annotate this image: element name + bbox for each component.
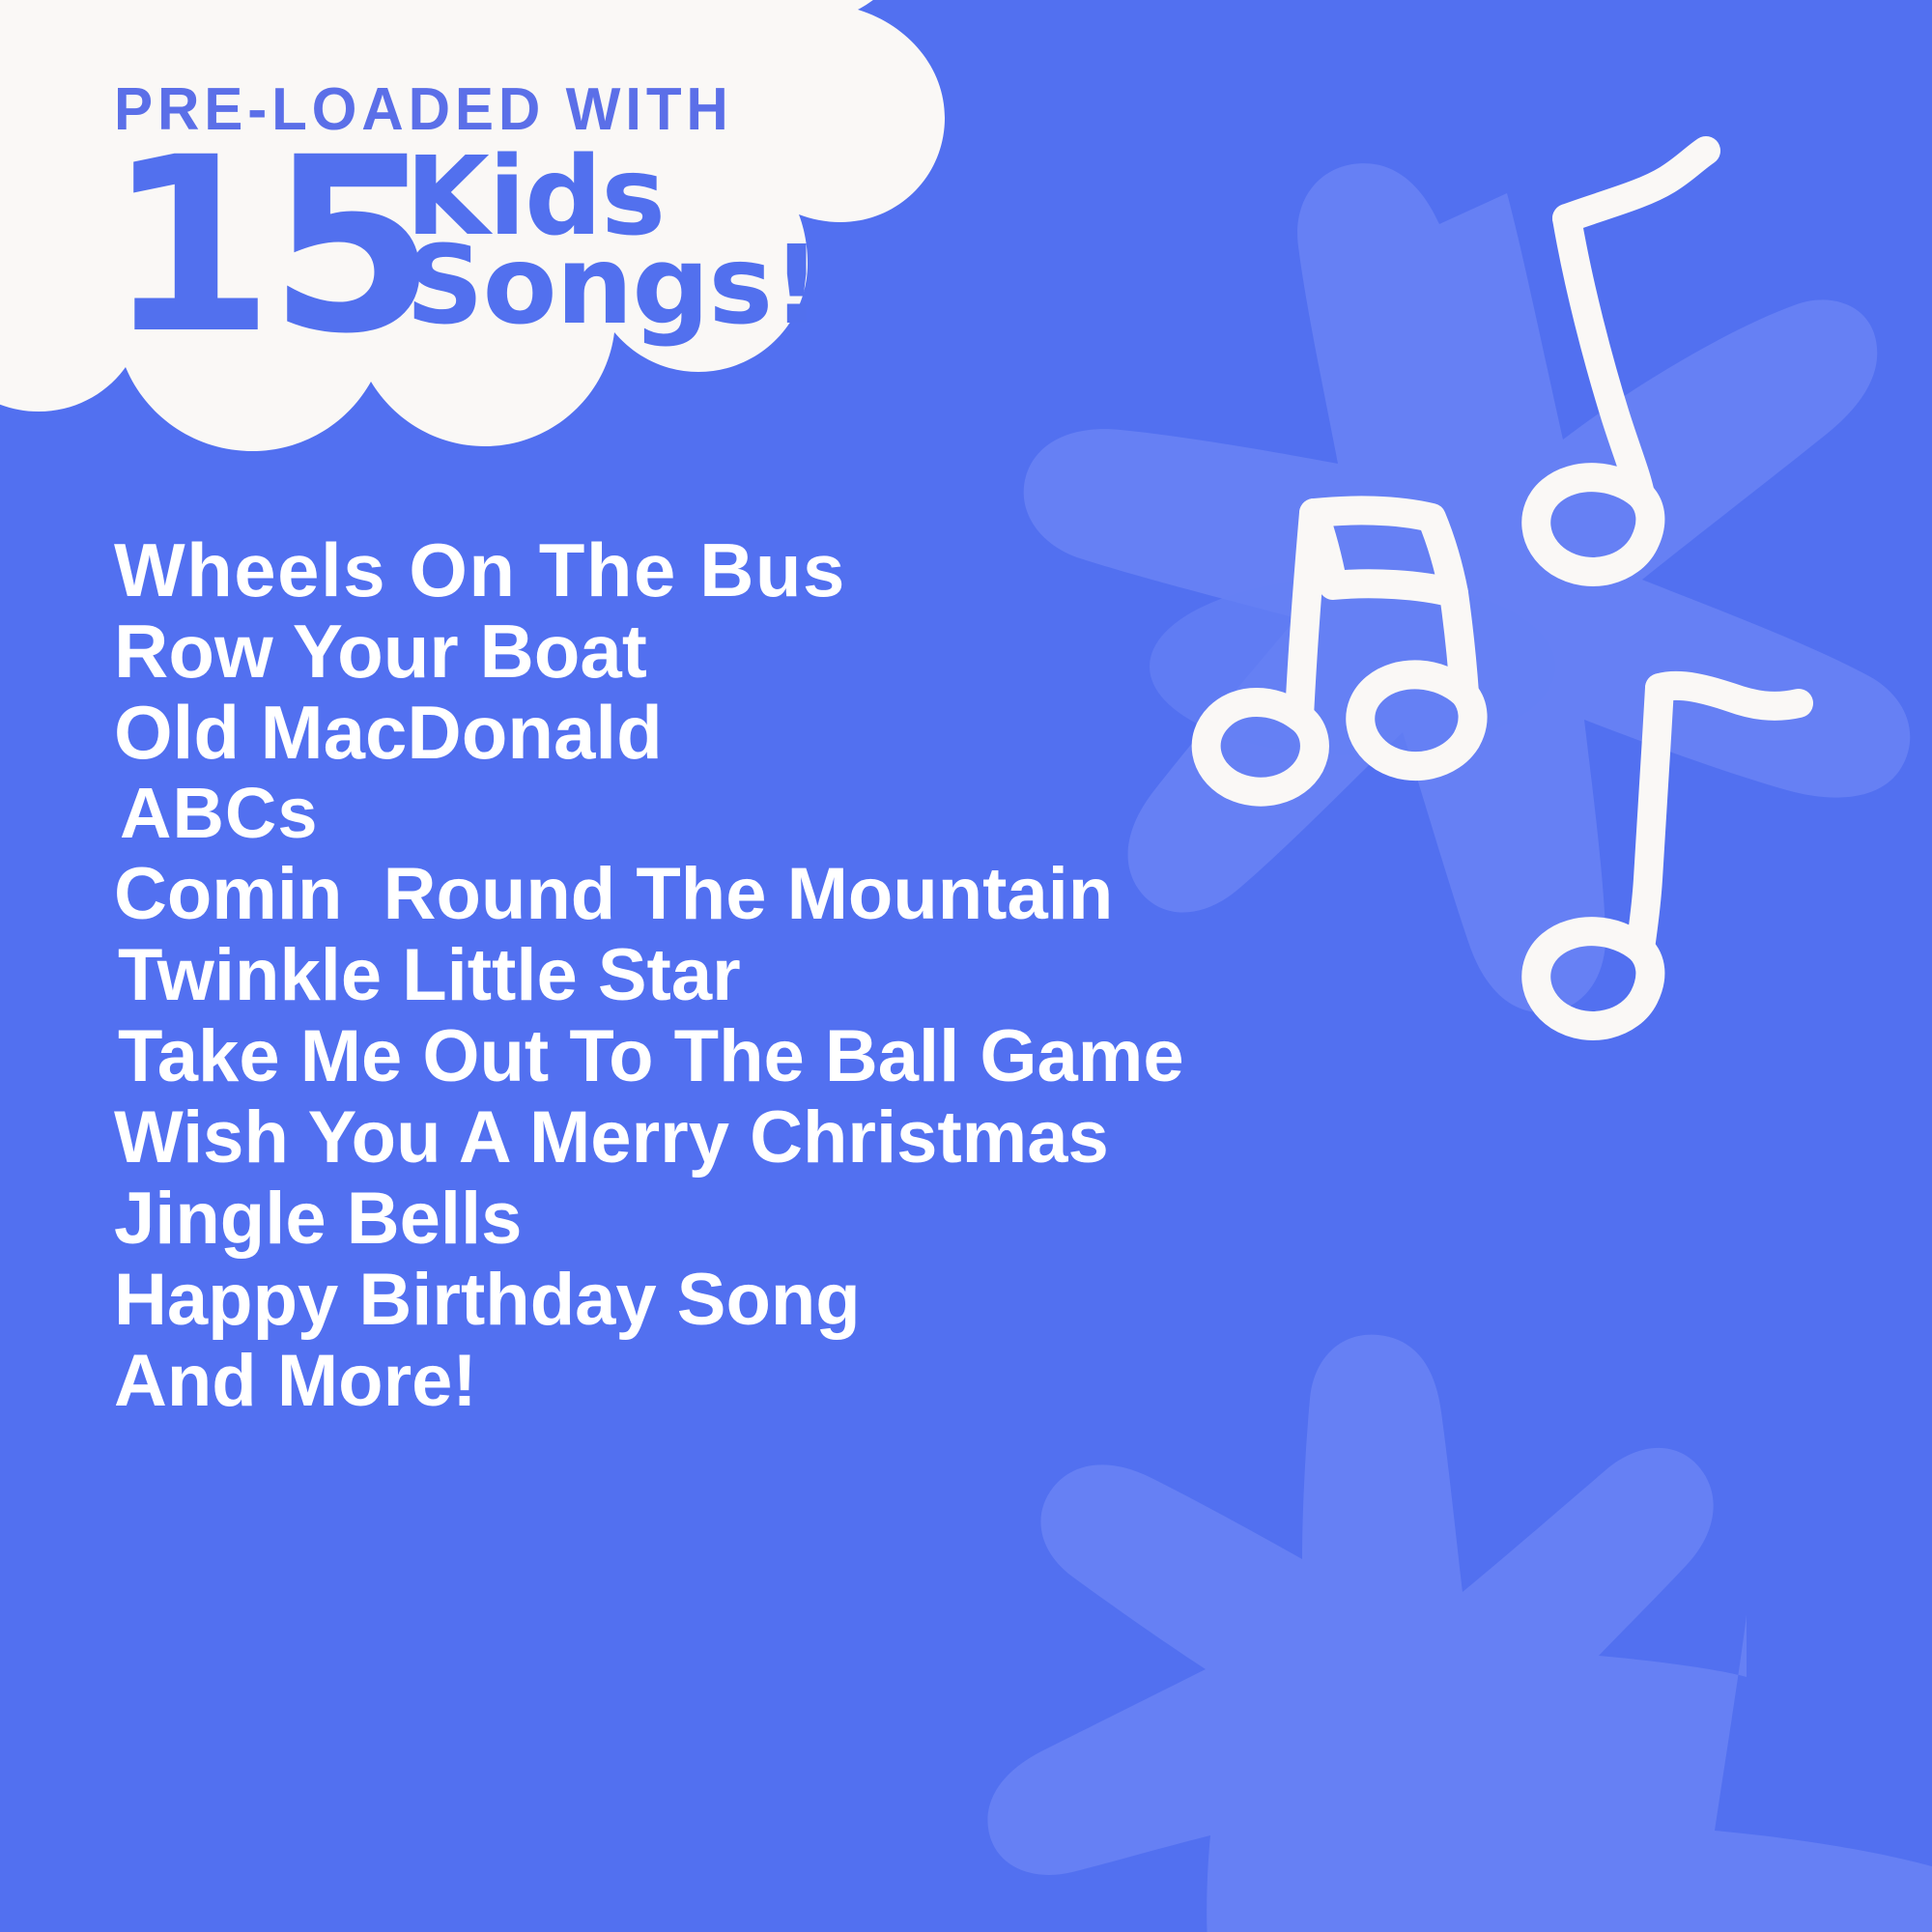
song-list-item: ABCs [120,773,1466,854]
song-list-item: Comin Round The Mountain [114,854,1466,935]
song-list-item: Twinkle Little Star [118,935,1466,1016]
song-list: Wheels On The Bus Row Your Boat Old MacD… [114,529,1466,1422]
star-shape-bottom-right [987,1335,1932,1932]
song-list-item: Wheels On The Bus [114,529,1466,611]
song-count-number: 15 [106,135,431,357]
song-list-item: Old MacDonald [114,692,1466,773]
kids-songs-line-2: Songs! [406,241,820,330]
promo-graphic: PRE-LOADED WITH 15 Kids Songs! [0,0,1932,1932]
song-list-item: Jingle Bells [114,1179,1466,1260]
song-list-item: Wish You A Merry Christmas [114,1097,1466,1179]
song-list-item: Take Me Out To The Ball Game [118,1016,1466,1097]
song-list-item: Row Your Boat [114,611,1466,692]
song-list-item: Happy Birthday Song [114,1260,1466,1341]
song-list-item: And More! [114,1341,1466,1422]
headline-block: PRE-LOADED WITH 15 Kids Songs! [0,0,966,415]
kids-songs-label: Kids Songs! [406,153,820,330]
